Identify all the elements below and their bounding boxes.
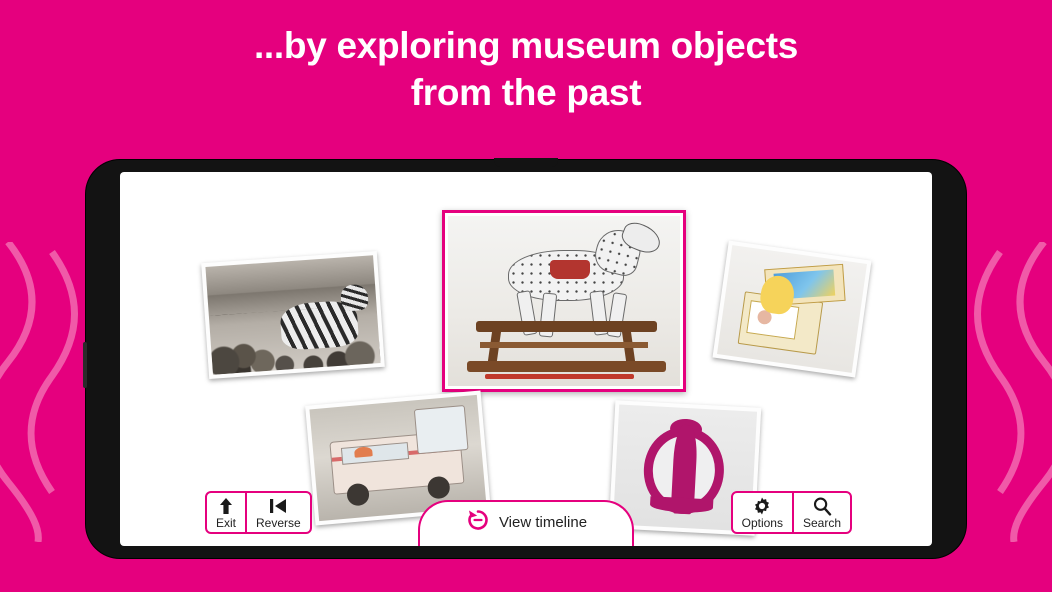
view-timeline-button[interactable]: View timeline [418, 500, 634, 546]
app-screenshot: ...by exploring museum objects from the … [0, 0, 1052, 592]
headline-line-1: ...by exploring museum objects [0, 22, 1052, 69]
horse-saddle-shape [550, 260, 589, 279]
zebra-photo-image [205, 255, 380, 374]
reverse-label: Reverse [256, 517, 301, 530]
bottom-right-controls: Options Search [731, 491, 852, 534]
rocking-horse-image [448, 216, 680, 386]
phone-notch [494, 158, 558, 167]
search-button[interactable]: Search [792, 493, 850, 532]
headline-line-2: from the past [0, 69, 1052, 116]
gear-icon [752, 496, 772, 516]
van-wheel-shape [346, 483, 370, 506]
van-wheel-shape [427, 476, 451, 499]
timeline-label: View timeline [499, 514, 587, 531]
crowd-shape [209, 304, 381, 375]
badge-text-band [650, 496, 714, 514]
van-cone-shape [354, 446, 373, 458]
exit-label: Exit [216, 517, 236, 530]
reverse-button[interactable]: Reverse [245, 493, 310, 532]
reverse-skip-back-icon [268, 496, 288, 516]
van-serving-window [341, 442, 409, 465]
app-viewport: Exit Reverse [120, 172, 932, 546]
bottom-left-controls: Exit Reverse [205, 491, 312, 534]
horse-stand-base [467, 361, 667, 373]
search-icon [812, 496, 832, 516]
object-card-zebra[interactable] [201, 251, 385, 379]
jack-in-the-box-image [717, 245, 867, 373]
decorative-wave-right [968, 242, 1052, 542]
object-card-jack-in-the-box[interactable] [712, 241, 871, 378]
phone-side-button[interactable] [83, 342, 87, 388]
page-headline: ...by exploring museum objects from the … [0, 22, 1052, 117]
search-label: Search [803, 517, 841, 530]
horse-stand-bar [480, 342, 647, 348]
timeline-refresh-icon [465, 507, 491, 538]
decorative-wave-left [0, 242, 84, 542]
object-card-rocking-horse[interactable] [442, 210, 686, 392]
exit-button[interactable]: Exit [207, 493, 245, 532]
van-cab-shape [414, 405, 468, 454]
options-label: Options [742, 517, 783, 530]
phone-device-frame: Exit Reverse [86, 160, 966, 558]
horse-stand-red-rail [485, 374, 633, 379]
options-button[interactable]: Options [733, 493, 792, 532]
exit-arrow-up-icon [217, 496, 235, 516]
